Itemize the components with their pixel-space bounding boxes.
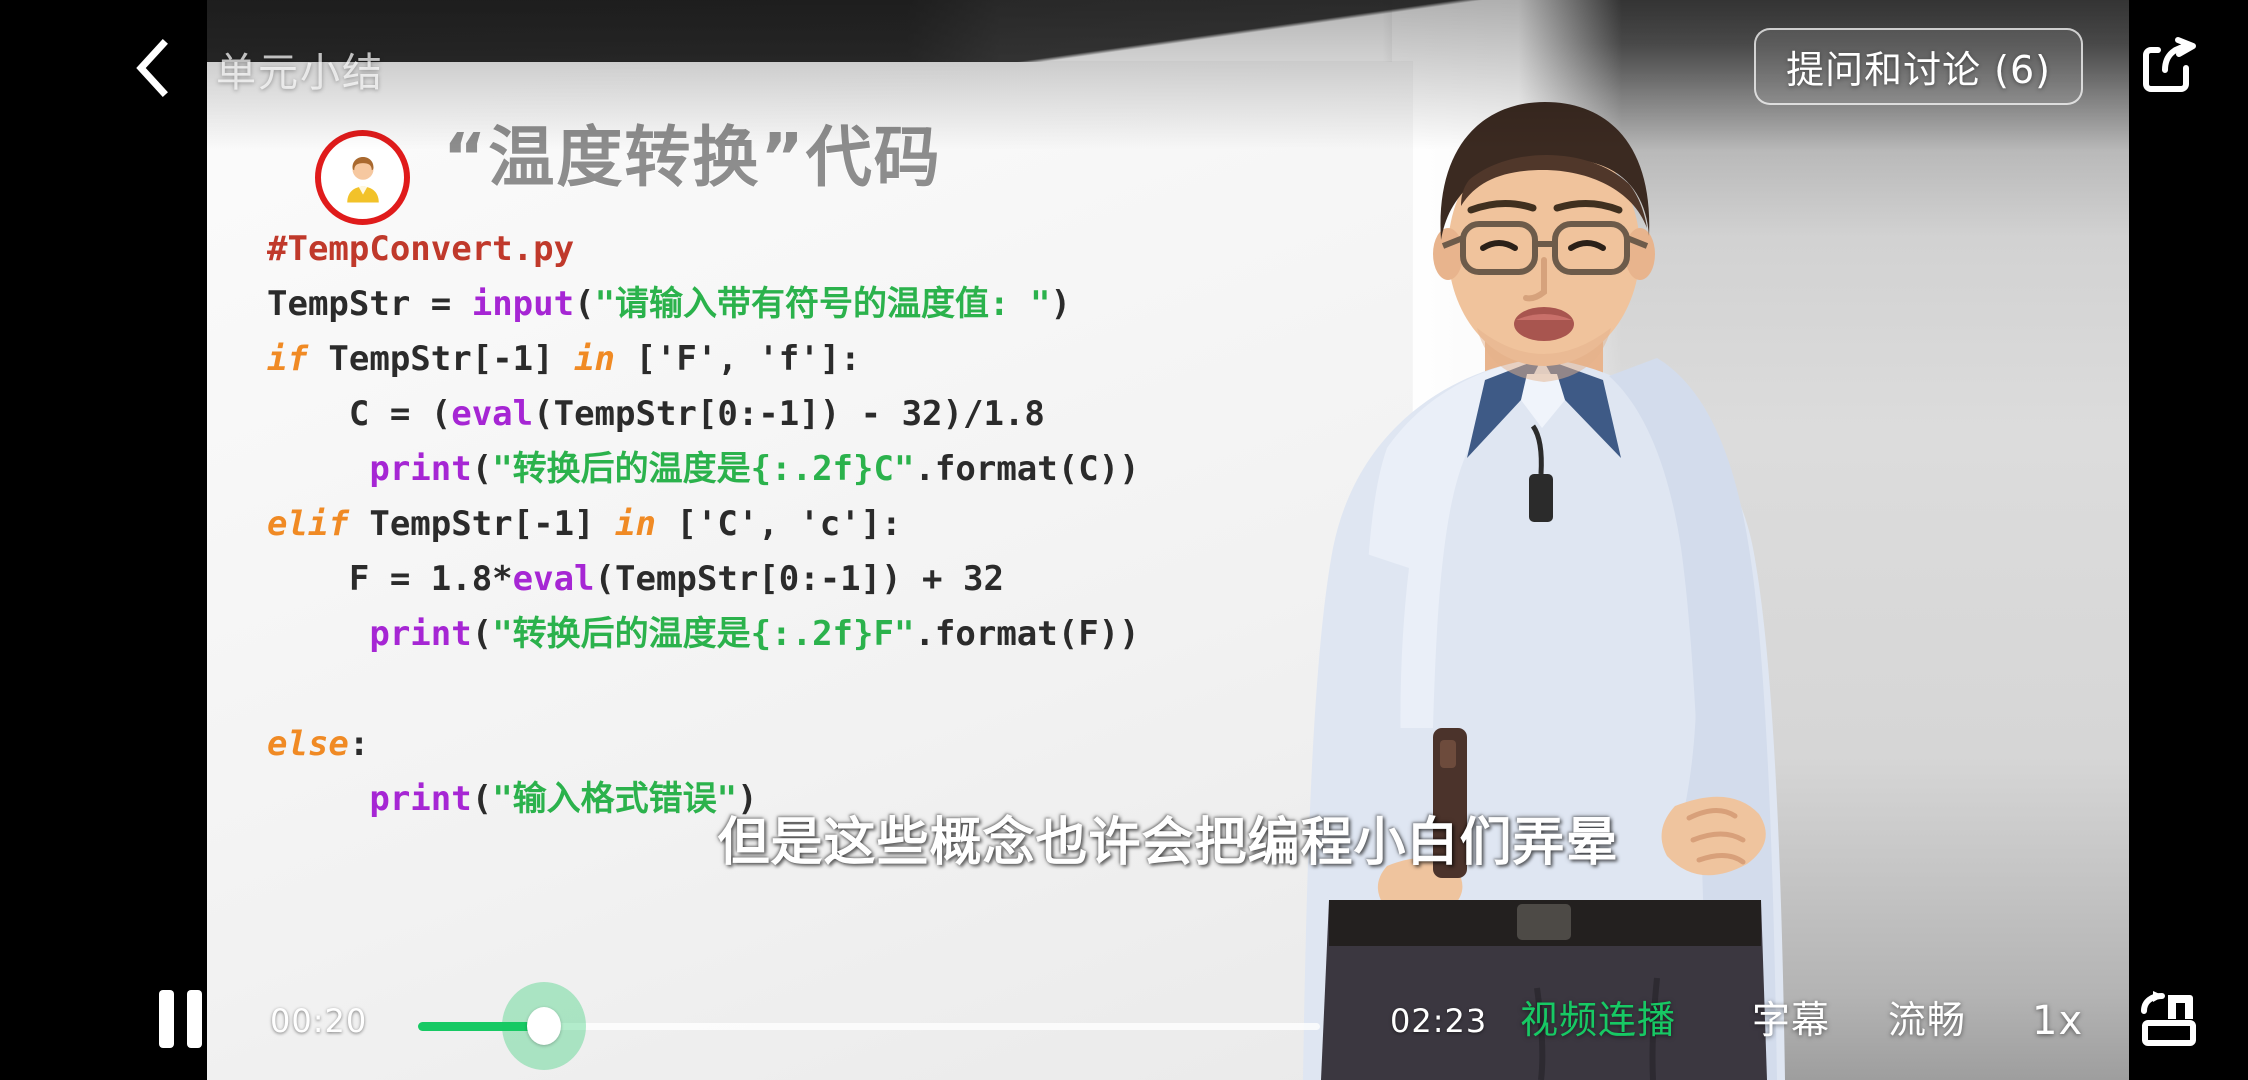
page-title: 单元小结 xyxy=(216,40,384,98)
current-time: 00:20 xyxy=(270,1002,367,1040)
code-token: print xyxy=(369,779,471,819)
code-token: .format(C)) xyxy=(914,449,1139,489)
code-token: "输入格式错误" xyxy=(492,779,737,819)
code-line: C = (eval(TempStr[0:-1]) - 32)/1.8 xyxy=(267,387,1407,442)
code-token: .format(F)) xyxy=(914,614,1139,654)
code-token: input xyxy=(472,284,574,324)
pause-button[interactable] xyxy=(140,982,220,1056)
code-token: ) xyxy=(1050,284,1070,324)
pause-icon-second-bar xyxy=(187,990,202,1048)
code-token: (TempStr[0:-1]) - 32)/1.8 xyxy=(533,394,1045,434)
code-token: ( xyxy=(472,779,492,819)
user-avatar-icon xyxy=(335,150,391,206)
code-token: elif xyxy=(267,504,349,544)
code-token: (TempStr[0:-1]) + 32 xyxy=(595,559,1004,599)
subtitle-toggle[interactable]: 字幕 xyxy=(1752,989,1830,1044)
chevron-left-icon xyxy=(132,39,172,97)
bottom-control-bar: 00:20 02:23 视频连播 字幕 流畅 1x xyxy=(0,960,2248,1080)
code-token: = xyxy=(431,284,472,324)
slide-title: “温度转换”代码 xyxy=(443,125,942,191)
code-token: ) xyxy=(737,779,757,819)
top-control-bar: 单元小结 提问和讨论 (6) xyxy=(0,0,2248,130)
code-token: ['F', 'f']: xyxy=(615,339,861,379)
code-line: #TempConvert.py xyxy=(267,222,1407,277)
code-line xyxy=(267,662,1407,717)
code-line: print("转换后的温度是{:.2f}C".format(C)) xyxy=(267,442,1407,497)
progress-slider[interactable] xyxy=(418,1020,1320,1032)
code-token: "转换后的温度是{:.2f}C" xyxy=(492,449,914,489)
code-token: print xyxy=(369,449,471,489)
code-line: elif TempStr[-1] in ['C', 'c']: xyxy=(267,497,1407,552)
code-token: ( xyxy=(574,284,594,324)
presentation-slide: “温度转换”代码 #TempConvert.pyTempStr = input(… xyxy=(207,62,1412,1080)
discussion-button[interactable]: 提问和讨论 (6) xyxy=(1754,28,2083,105)
code-line: print("转换后的温度是{:.2f}F".format(F)) xyxy=(267,607,1407,662)
code-token: else xyxy=(267,724,349,764)
code-token: "转换后的温度是{:.2f}F" xyxy=(492,614,914,654)
quality-selector[interactable]: 流畅 xyxy=(1888,989,1966,1044)
code-token: TempStr[-1] xyxy=(308,339,574,379)
code-token: if xyxy=(267,339,308,379)
code-line: F = 1.8*eval(TempStr[0:-1]) + 32 xyxy=(267,552,1407,607)
code-line: if TempStr[-1] in ['F', 'f']: xyxy=(267,332,1407,387)
code-token: #TempConvert.py xyxy=(267,229,574,269)
code-token: eval xyxy=(513,559,595,599)
code-token: C = ( xyxy=(267,394,451,434)
code-token xyxy=(267,449,369,489)
video-player: “温度转换”代码 #TempConvert.pyTempStr = input(… xyxy=(0,0,2248,1080)
cast-screen-icon xyxy=(2138,989,2200,1047)
code-token: ['C', 'c']: xyxy=(656,504,902,544)
back-button[interactable] xyxy=(118,36,186,100)
cast-button[interactable] xyxy=(2130,982,2208,1054)
share-icon xyxy=(2138,36,2200,96)
code-token: "请输入带有符号的温度值: " xyxy=(595,284,1051,324)
code-token xyxy=(267,779,369,819)
speaker-figure xyxy=(1237,28,1847,1080)
code-token: TempStr[-1] xyxy=(349,504,615,544)
code-token: in xyxy=(615,504,656,544)
slide-code-block: #TempConvert.pyTempStr = input("请输入带有符号的… xyxy=(267,222,1407,827)
pause-icon xyxy=(159,990,174,1048)
code-token: ( xyxy=(472,614,492,654)
code-token: in xyxy=(574,339,615,379)
code-line: else: xyxy=(267,717,1407,772)
avatar xyxy=(315,130,410,225)
code-token: F = 1.8* xyxy=(267,559,513,599)
code-token: print xyxy=(369,614,471,654)
playback-speed-selector[interactable]: 1x xyxy=(2032,998,2083,1044)
share-button[interactable] xyxy=(2130,30,2208,102)
code-token: TempStr xyxy=(267,284,431,324)
autoplay-toggle[interactable]: 视频连播 xyxy=(1520,989,1676,1044)
code-token: eval xyxy=(451,394,533,434)
code-line: TempStr = input("请输入带有符号的温度值: ") xyxy=(267,277,1407,332)
code-token xyxy=(267,614,369,654)
discussion-button-label: 提问和讨论 (6) xyxy=(1786,39,2051,94)
total-time: 02:23 xyxy=(1390,1002,1487,1040)
code-token: ( xyxy=(472,449,492,489)
code-token: : xyxy=(349,724,369,764)
video-surface[interactable]: “温度转换”代码 #TempConvert.pyTempStr = input(… xyxy=(207,0,2129,1080)
code-line: print("输入格式错误") xyxy=(267,772,1407,827)
